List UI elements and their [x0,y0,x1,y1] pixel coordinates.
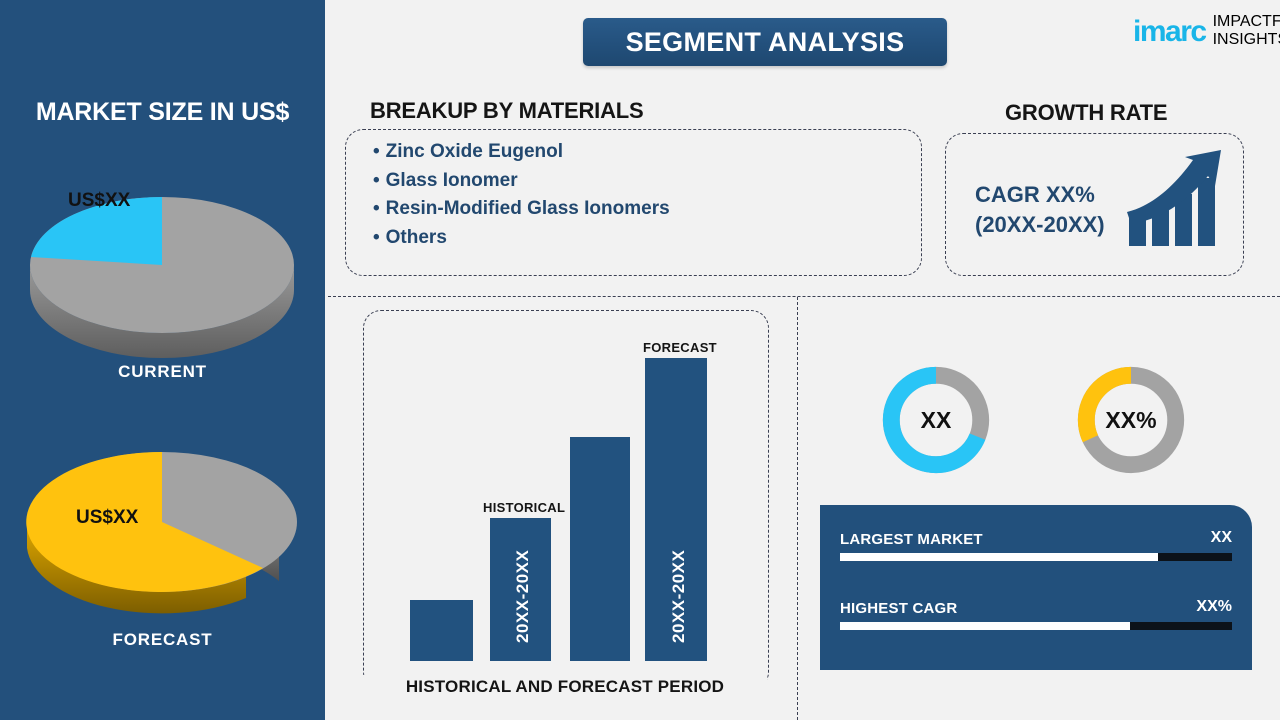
materials-list: •Zinc Oxide Eugenol •Glass Ionomer •Resi… [373,138,903,252]
stat-progress-fill [840,553,1158,561]
stat-progress-track [840,553,1232,561]
list-item: •Others [373,224,903,253]
stat-progress-track [840,622,1232,630]
market-share-donut-label: XX% [1072,361,1190,479]
list-item: •Glass Ionomer [373,167,903,196]
forecast-annotation: FORECAST [643,340,717,355]
stat-value: XX% [1196,598,1232,616]
imarc-logo: imarc IMPACTFUL INSIGHTS [1133,14,1263,48]
market-size-title: MARKET SIZE IN US$ [0,98,325,127]
market-value-donut-label: XX [877,361,995,479]
bullet-icon: • [373,198,380,219]
materials-heading: BREAKUP BY MATERIALS [370,98,643,124]
growth-rate-heading: GROWTH RATE [1005,100,1167,126]
list-item: •Zinc Oxide Eugenol [373,138,903,167]
key-stats-panel: LARGEST MARKET XX HIGHEST CAGR XX% [820,505,1252,670]
logo-wordmark: imarc [1133,17,1206,47]
forecast-pie-svg [0,425,325,645]
logo-tagline-line1: IMPACTFUL [1213,13,1280,31]
bar-2-period-label: 20XX-20XX [513,550,533,643]
cagr-line-1: CAGR XX% [975,180,1105,210]
bullet-icon: • [373,227,380,248]
bullet-icon: • [373,170,380,191]
stat-label: LARGEST MARKET [840,531,983,548]
material-label: Others [386,227,447,248]
material-label: Resin-Modified Glass Ionomers [386,198,670,219]
material-label: Glass Ionomer [386,170,518,191]
market-size-panel: MARKET SIZE IN US$ US$XX CURRENT [0,0,325,720]
forecast-pie-caption: FORECAST [0,630,325,650]
bar-3 [570,437,630,661]
bar-1 [410,600,473,661]
segment-analysis-infographic: MARKET SIZE IN US$ US$XX CURRENT [0,0,1280,720]
page-title: SEGMENT ANALYSIS [626,27,905,58]
page-title-banner: SEGMENT ANALYSIS [583,18,947,66]
stat-label: HIGHEST CAGR [840,600,957,617]
historical-annotation: HISTORICAL [483,500,565,515]
current-pie-svg [0,160,325,360]
bullet-icon: • [373,141,380,162]
bar-4-period-label: 20XX-20XX [669,550,689,643]
cagr-text: CAGR XX% (20XX-20XX) [975,180,1105,240]
material-label: Zinc Oxide Eugenol [386,141,563,162]
horizontal-divider [328,296,1280,297]
growth-arrow-bars-icon [1125,148,1227,250]
market-share-donut: XX% [1072,361,1190,479]
vertical-divider [797,297,798,720]
list-item: •Resin-Modified Glass Ionomers [373,195,903,224]
stat-progress-fill [840,622,1130,630]
logo-tagline-line2: INSIGHTS [1213,31,1280,49]
logo-tagline: IMPACTFUL INSIGHTS [1213,13,1280,49]
chart-axis-label: HISTORICAL AND FORECAST PERIOD [363,675,767,699]
current-pie-chart: US$XX [0,160,325,360]
stat-value: XX [1211,529,1232,547]
market-value-donut: XX [877,361,995,479]
current-pie-caption: CURRENT [0,362,325,382]
cagr-line-2: (20XX-20XX) [975,210,1105,240]
forecast-pie-chart: US$XX [0,425,325,645]
